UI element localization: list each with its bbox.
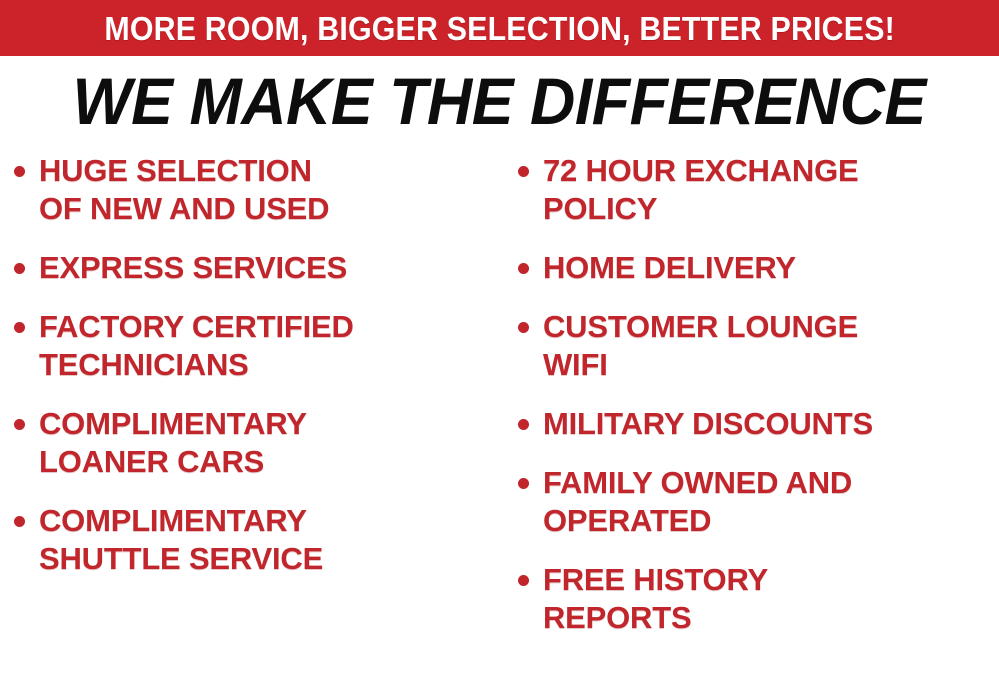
list-item-label: HUGE SELECTION OF NEW AND USED <box>39 152 329 228</box>
list-item: FREE HISTORY REPORTS <box>518 561 999 637</box>
bullet-dot-icon <box>14 263 25 274</box>
list-item-label: COMPLIMENTARY LOANER CARS <box>39 405 307 481</box>
list-item-label: HOME DELIVERY <box>543 249 796 287</box>
list-item: CUSTOMER LOUNGE WIFI <box>518 308 999 384</box>
list-item-label: COMPLIMENTARY SHUTTLE SERVICE <box>39 502 323 578</box>
list-item-label: CUSTOMER LOUNGE WIFI <box>543 308 858 384</box>
list-item-label: FAMILY OWNED AND OPERATED <box>543 464 852 540</box>
benefits-column-left: HUGE SELECTION OF NEW AND USED EXPRESS S… <box>14 152 500 692</box>
benefits-columns: HUGE SELECTION OF NEW AND USED EXPRESS S… <box>0 152 999 692</box>
bullet-dot-icon <box>14 516 25 527</box>
bullet-dot-icon <box>518 478 529 489</box>
list-item: COMPLIMENTARY SHUTTLE SERVICE <box>14 502 500 578</box>
page-title: WE MAKE THE DIFFERENCE <box>73 68 926 134</box>
bullet-dot-icon <box>518 263 529 274</box>
list-item-label: 72 HOUR EXCHANGE POLICY <box>543 152 858 228</box>
list-item: 72 HOUR EXCHANGE POLICY <box>518 152 999 228</box>
bullet-dot-icon <box>518 575 529 586</box>
list-item: COMPLIMENTARY LOANER CARS <box>14 405 500 481</box>
bullet-dot-icon <box>518 419 529 430</box>
list-item-label: EXPRESS SERVICES <box>39 249 347 287</box>
promotional-poster: MORE ROOM, BIGGER SELECTION, BETTER PRIC… <box>0 0 999 692</box>
bullet-dot-icon <box>518 166 529 177</box>
bullet-dot-icon <box>14 419 25 430</box>
banner-headline-text: MORE ROOM, BIGGER SELECTION, BETTER PRIC… <box>104 12 895 45</box>
list-item-label: MILITARY DISCOUNTS <box>543 405 873 443</box>
list-item-label: FACTORY CERTIFIED TECHNICIANS <box>39 308 354 384</box>
list-item-label: FREE HISTORY REPORTS <box>543 561 768 637</box>
bullet-dot-icon <box>518 322 529 333</box>
list-item: FAMILY OWNED AND OPERATED <box>518 464 999 540</box>
bullet-dot-icon <box>14 166 25 177</box>
headline-container: WE MAKE THE DIFFERENCE <box>0 62 999 140</box>
list-item: EXPRESS SERVICES <box>14 249 500 287</box>
top-banner: MORE ROOM, BIGGER SELECTION, BETTER PRIC… <box>0 0 999 56</box>
benefits-column-right: 72 HOUR EXCHANGE POLICY HOME DELIVERY CU… <box>518 152 999 692</box>
list-item: HUGE SELECTION OF NEW AND USED <box>14 152 500 228</box>
list-item: HOME DELIVERY <box>518 249 999 287</box>
list-item: FACTORY CERTIFIED TECHNICIANS <box>14 308 500 384</box>
bullet-dot-icon <box>14 322 25 333</box>
list-item: MILITARY DISCOUNTS <box>518 405 999 443</box>
